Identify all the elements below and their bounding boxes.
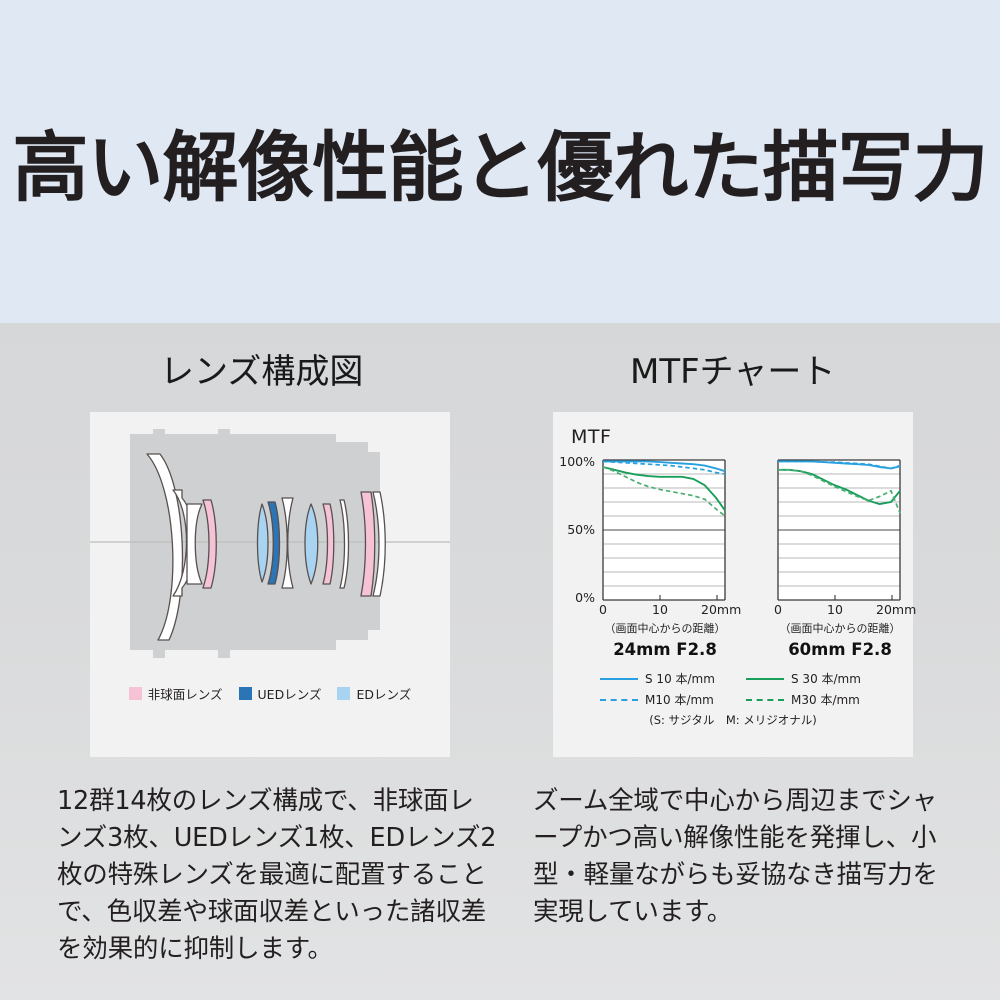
x-tick-24mm-0: 0 bbox=[599, 602, 607, 617]
section-heading-lens: レンズ構成図 bbox=[160, 352, 363, 392]
mtf-legend-item-m10: M10 本/mm bbox=[600, 691, 720, 708]
x-tick-60mm-0: 0 bbox=[774, 602, 782, 617]
page-root: 高い解像性能と優れた描写力 レンズ構成図 MTFチャート bbox=[0, 0, 1000, 1000]
section-heading-mtf: MTFチャート bbox=[630, 352, 835, 392]
mtf-legend-item-s30: S 30 本/mm bbox=[746, 670, 866, 687]
caption-lens: 12群14枚のレンズ構成で、非球面レンズ3枚、UEDレンズ1枚、EDレンズ2枚の… bbox=[57, 783, 497, 968]
x-tick-60mm-10: 10 bbox=[827, 602, 843, 617]
lens-legend-item-ued: UEDレンズ bbox=[239, 684, 322, 703]
x-tick-60mm-20: 20mm bbox=[876, 602, 916, 617]
line-swatch-m30-icon bbox=[746, 699, 784, 701]
mtf-legend-footnote: (S: サジタル M: メリジオナル) bbox=[553, 712, 913, 728]
caption-mtf: ズーム全域で中心から周辺までシャープかつ高い解像性能を発揮し、小型・軽量ながらも… bbox=[533, 783, 953, 931]
swatch-ed-icon bbox=[337, 687, 350, 700]
mtf-legend-label-m10: M10 本/mm bbox=[645, 691, 714, 708]
mtf-legend: S 10 本/mm S 30 本/mm M10 本/mm M30 本/mm bbox=[553, 670, 913, 728]
mtf-legend-label-s10: S 10 本/mm bbox=[645, 670, 715, 687]
lens-legend-label-ed: EDレンズ bbox=[356, 684, 411, 703]
mtf-chart-area: MTF 100% 50% 0% bbox=[553, 412, 913, 757]
mtf-legend-label-s30: S 30 本/mm bbox=[791, 670, 861, 687]
x-tick-24mm-20: 20mm bbox=[701, 602, 741, 617]
x-tick-24mm-10: 10 bbox=[652, 602, 668, 617]
line-swatch-s30-icon bbox=[746, 678, 784, 680]
chart-title-60mm: 60mm F2.8 bbox=[765, 640, 915, 659]
mtf-legend-item-s10: S 10 本/mm bbox=[600, 670, 720, 687]
chart-title-24mm: 24mm F2.8 bbox=[590, 640, 740, 659]
mtf-legend-row-dashed: M10 本/mm M30 本/mm bbox=[553, 691, 913, 708]
lens-legend: 非球面レンズ UEDレンズ EDレンズ bbox=[90, 684, 450, 703]
mtf-chart-panel: MTF 100% 50% 0% bbox=[553, 412, 913, 757]
swatch-ued-icon bbox=[239, 687, 252, 700]
lens-legend-item-ed: EDレンズ bbox=[337, 684, 411, 703]
lens-legend-label-ued: UEDレンズ bbox=[258, 684, 322, 703]
lens-diagram-panel: 非球面レンズ UEDレンズ EDレンズ bbox=[90, 412, 450, 757]
swatch-aspherical-icon bbox=[129, 687, 142, 700]
mtf-plot-24mm bbox=[603, 460, 725, 600]
x-caption-60mm: （画面中心からの距離） bbox=[765, 620, 915, 636]
lens-legend-item-aspherical: 非球面レンズ bbox=[129, 684, 223, 703]
line-swatch-s10-icon bbox=[600, 678, 638, 680]
mtf-legend-label-m30: M30 本/mm bbox=[791, 691, 860, 708]
lens-cross-section bbox=[90, 412, 450, 682]
mtf-legend-item-m30: M30 本/mm bbox=[746, 691, 866, 708]
x-caption-24mm: （画面中心からの距離） bbox=[590, 620, 740, 636]
lens-legend-label-aspherical: 非球面レンズ bbox=[148, 684, 223, 703]
mtf-plot-60mm bbox=[778, 460, 900, 600]
lens-cross-section-svg bbox=[90, 412, 450, 682]
line-swatch-m10-icon bbox=[600, 699, 638, 701]
mtf-legend-row-solid: S 10 本/mm S 30 本/mm bbox=[553, 670, 913, 687]
hero-band: 高い解像性能と優れた描写力 bbox=[0, 0, 1000, 323]
page-title: 高い解像性能と優れた描写力 bbox=[0, 124, 1000, 212]
